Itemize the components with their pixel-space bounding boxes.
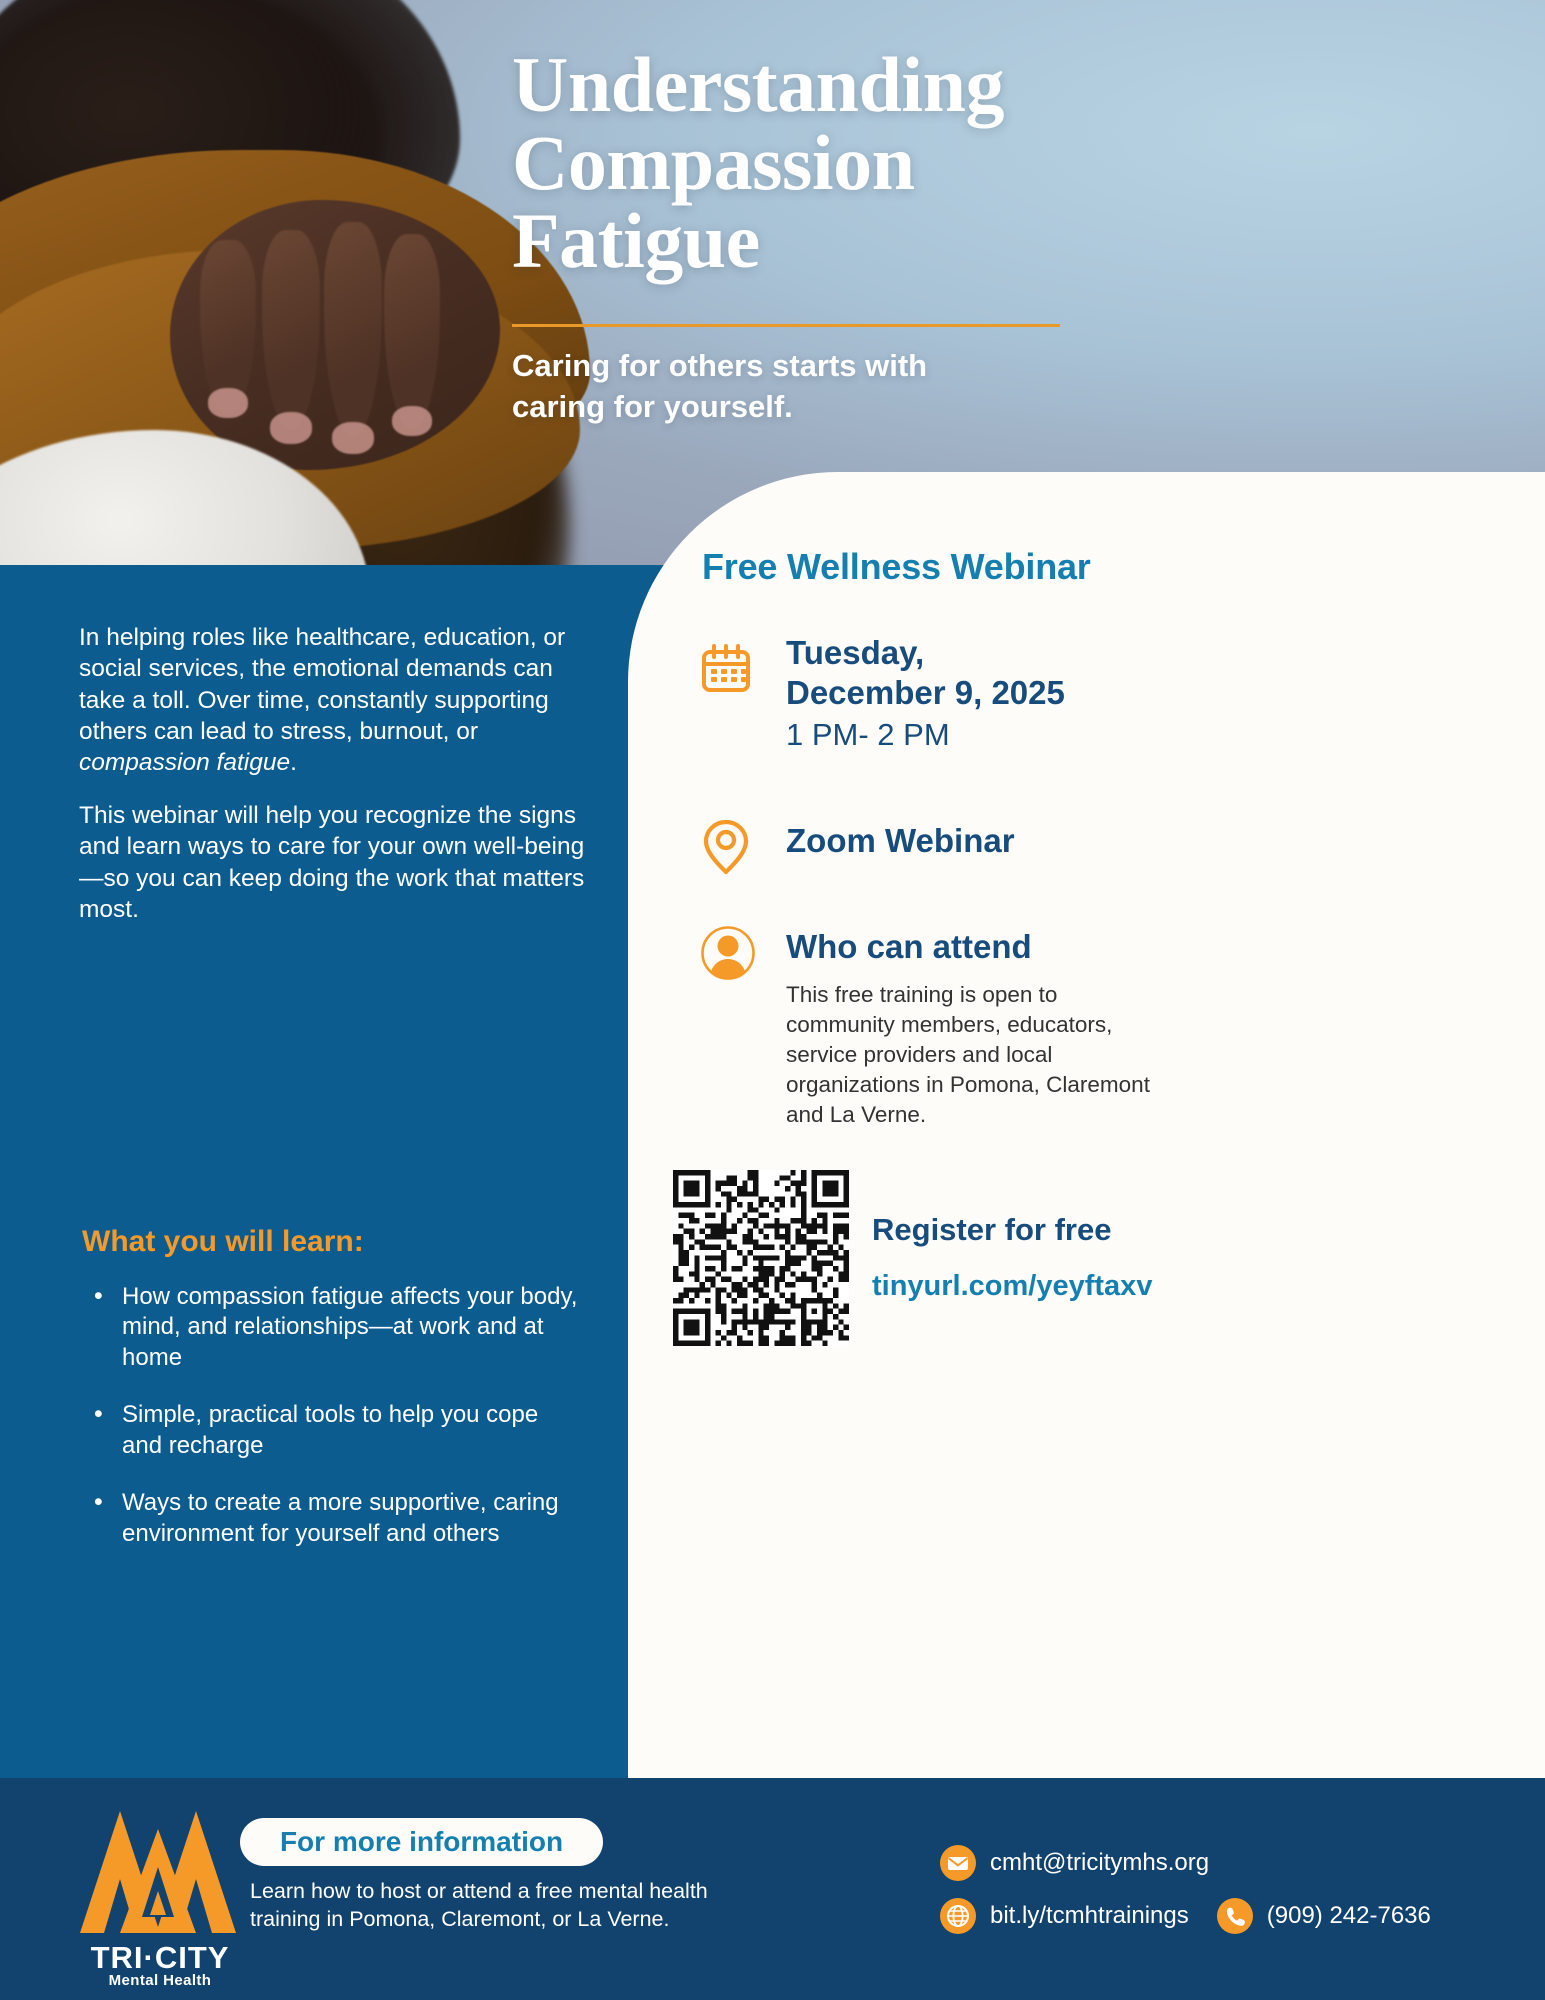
email-icon — [940, 1845, 976, 1881]
attend-copy: This free training is open to community … — [786, 980, 1166, 1130]
date-line-2: December 9, 2025 — [786, 673, 1065, 713]
title-line-1: Understanding — [512, 46, 1212, 124]
intro-paragraph-emphasis: compassion fatigue — [79, 749, 290, 776]
for-more-information-pill: For more information — [240, 1818, 603, 1866]
list-item: How compassion fatigue affects your body… — [82, 1282, 582, 1373]
subtitle-line-1: Caring for others starts with — [512, 348, 927, 383]
register-heading: Register for free — [872, 1212, 1152, 1248]
for-more-information-label: For more information — [280, 1826, 563, 1858]
for-more-information-copy: Learn how to host or attend a free menta… — [250, 1878, 730, 1934]
who-can-attend-block: Who can attend This free training is ope… — [786, 928, 1166, 1130]
contact-phone-text: (909) 242-7636 — [1267, 1902, 1431, 1930]
list-item: Simple, practical tools to help you cope… — [82, 1400, 582, 1461]
title-line-2: Compassion — [512, 124, 1212, 202]
webinar-paragraph: This webinar will help you recognize the… — [79, 800, 591, 925]
contact-email-text: cmht@tricitymhs.org — [990, 1849, 1209, 1877]
learn-list: How compassion fatigue affects your body… — [82, 1282, 582, 1576]
contact-phone[interactable]: (909) 242-7636 — [1217, 1898, 1431, 1934]
intro-paragraph: In helping roles like healthcare, educat… — [79, 622, 591, 779]
logo-tagline: Mental Health — [70, 1972, 250, 1989]
phone-icon — [1217, 1898, 1253, 1934]
hero-subtitle: Caring for others starts with caring for… — [512, 346, 1072, 428]
title-divider — [512, 324, 1060, 327]
list-item: Ways to create a more supportive, caring… — [82, 1488, 582, 1549]
map-pin-icon — [700, 818, 752, 881]
contact-row-email: cmht@tricitymhs.org — [940, 1845, 1459, 1881]
title-line-3: Fatigue — [512, 202, 1212, 280]
globe-icon — [940, 1898, 976, 1934]
footer-contacts: cmht@tricitymhs.org bit.ly/tcmhtrainings… — [940, 1845, 1459, 1951]
page-title: Understanding Compassion Fatigue — [512, 46, 1212, 280]
tri-city-mountains-logo — [78, 1805, 238, 1945]
card-title: Free Wellness Webinar — [702, 546, 1091, 588]
contact-row-web-phone: bit.ly/tcmhtrainings (909) 242-7636 — [940, 1898, 1459, 1934]
calendar-icon — [700, 643, 752, 700]
person-icon — [700, 925, 756, 986]
qr-code[interactable] — [673, 1170, 849, 1346]
webinar-location: Zoom Webinar — [786, 822, 1015, 860]
date-line-1: Tuesday, — [786, 633, 1065, 673]
webinar-date-block: Tuesday, December 9, 2025 1 PM- 2 PM — [786, 633, 1065, 754]
flyer-page: Understanding Compassion Fatigue Caring … — [0, 0, 1545, 2000]
logo-wordmark: TRI·CITY — [70, 1940, 250, 1976]
qr-code-image[interactable] — [673, 1170, 849, 1346]
contact-website-text: bit.ly/tcmhtrainings — [990, 1902, 1189, 1930]
contact-email[interactable]: cmht@tricitymhs.org — [940, 1845, 1209, 1881]
attend-heading: Who can attend — [786, 928, 1166, 966]
register-url[interactable]: tinyurl.com/yeyftaxv — [872, 1270, 1152, 1303]
intro-paragraph-pre: In helping roles like healthcare, educat… — [79, 624, 565, 745]
contact-website[interactable]: bit.ly/tcmhtrainings — [940, 1898, 1189, 1934]
webinar-time: 1 PM- 2 PM — [786, 716, 1065, 754]
location-label: Zoom Webinar — [786, 822, 1015, 860]
intro-paragraph-post: . — [290, 749, 297, 776]
register-block: Register for free tinyurl.com/yeyftaxv — [872, 1212, 1152, 1303]
learn-heading: What you will learn: — [82, 1225, 364, 1259]
subtitle-line-2: caring for yourself. — [512, 389, 793, 424]
